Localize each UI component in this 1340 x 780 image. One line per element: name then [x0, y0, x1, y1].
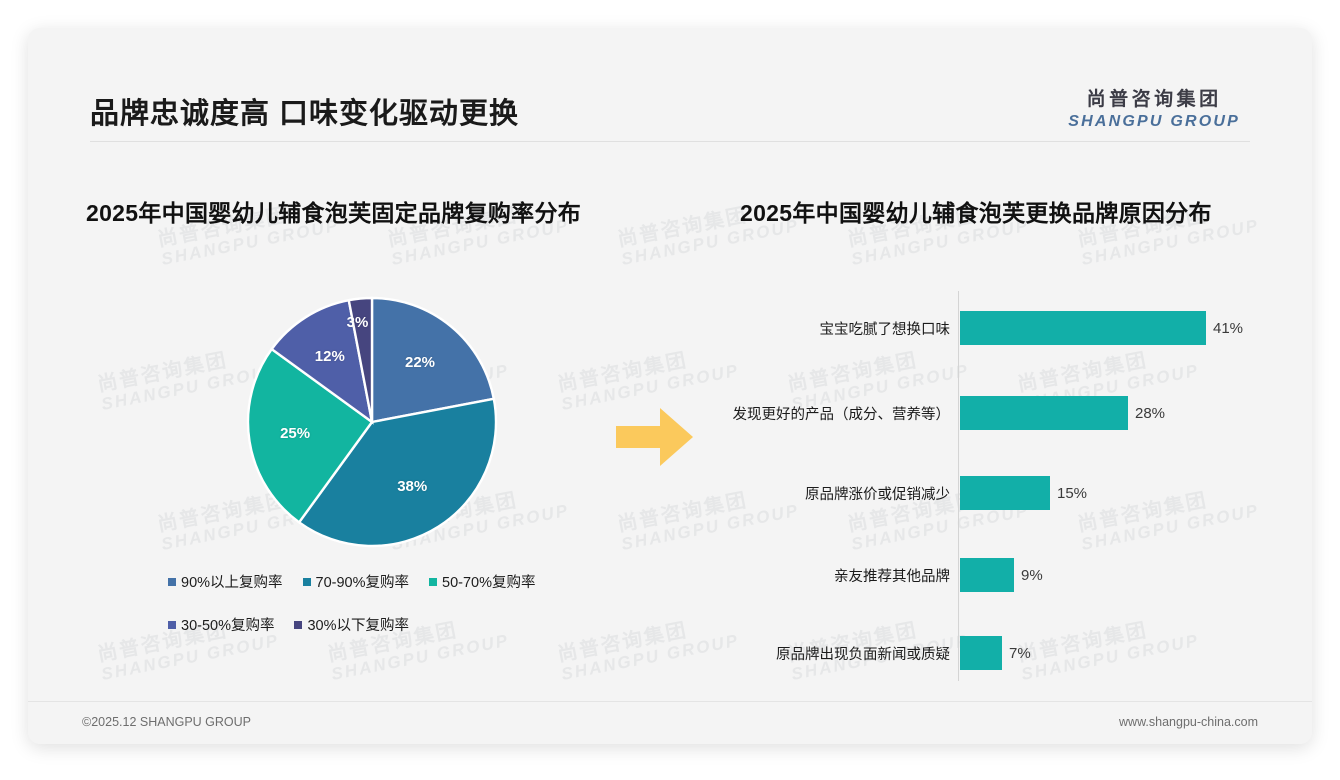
legend-label: 70-90%复购率 — [316, 571, 409, 592]
bar-track: 15% — [960, 473, 1288, 513]
legend-label: 30%以下复购率 — [307, 614, 409, 635]
bar-track: 41% — [960, 308, 1288, 348]
pie-slice-label: 38% — [397, 478, 427, 495]
pie-chart: 22%38%25%12%3% — [246, 296, 498, 548]
pie-legend: 90%以上复购率70-90%复购率50-70%复购率 30-50%复购率30%以… — [168, 571, 588, 657]
bar-chart: 宝宝吃腻了想换口味41%发现更好的产品（成分、营养等）28%原品牌涨价或促销减少… — [728, 283, 1288, 683]
bar-chart-row: 原品牌出现负面新闻或质疑7% — [728, 633, 1288, 673]
slide-card: 尚普咨询集团SHANGPU GROUP尚普咨询集团SHANGPU GROUP尚普… — [28, 28, 1312, 744]
bar-chart-row: 亲友推荐其他品牌9% — [728, 555, 1288, 595]
legend-swatch-icon — [168, 621, 176, 629]
logo-english-text: SHANGPU GROUP — [1068, 112, 1240, 131]
header-divider — [90, 141, 1250, 142]
logo-chinese-text: 尚普咨询集团 — [1068, 88, 1240, 112]
legend-row: 90%以上复购率70-90%复购率50-70%复购率 — [168, 571, 588, 592]
legend-label: 90%以上复购率 — [181, 571, 283, 592]
legend-item[interactable]: 90%以上复购率 — [168, 571, 283, 592]
bar-fill — [960, 558, 1014, 592]
pie-slice-label: 12% — [315, 348, 345, 365]
legend-label: 30-50%复购率 — [181, 614, 274, 635]
bar-value-label: 41% — [1213, 320, 1243, 337]
bar-category-label: 发现更好的产品（成分、营养等） — [728, 403, 960, 424]
watermark: 尚普咨询集团SHANGPU GROUP — [556, 341, 741, 414]
right-arrow-icon — [616, 406, 694, 473]
left-chart-title: 2025年中国婴幼儿辅食泡芙固定品牌复购率分布 — [86, 194, 581, 228]
bar-value-label: 9% — [1021, 567, 1043, 584]
bar-track: 7% — [960, 633, 1288, 673]
bar-value-label: 15% — [1057, 485, 1087, 502]
page-title: 品牌忠诚度高 口味变化驱动更换 — [90, 90, 519, 132]
right-chart-title: 2025年中国婴幼儿辅食泡芙更换品牌原因分布 — [740, 194, 1212, 228]
bar-chart-row: 原品牌涨价或促销减少15% — [728, 473, 1288, 513]
legend-item[interactable]: 70-90%复购率 — [303, 571, 409, 592]
pie-chart-svg — [246, 296, 498, 548]
bar-value-label: 28% — [1135, 405, 1165, 422]
pie-slice-label: 25% — [280, 425, 310, 442]
legend-swatch-icon — [303, 578, 311, 586]
legend-swatch-icon — [168, 578, 176, 586]
bar-value-label: 7% — [1009, 645, 1031, 662]
legend-swatch-icon — [294, 621, 302, 629]
bar-category-label: 原品牌出现负面新闻或质疑 — [728, 643, 960, 664]
bar-chart-row: 宝宝吃腻了想换口味41% — [728, 308, 1288, 348]
bar-fill — [960, 636, 1002, 670]
bar-category-label: 原品牌涨价或促销减少 — [728, 483, 960, 504]
bar-fill — [960, 396, 1128, 430]
pie-slice-label: 22% — [405, 354, 435, 371]
pie-slice-label: 3% — [347, 314, 369, 331]
bar-fill — [960, 476, 1050, 510]
legend-swatch-icon — [429, 578, 437, 586]
bar-fill — [960, 311, 1206, 345]
legend-item[interactable]: 50-70%复购率 — [429, 571, 535, 592]
bar-track: 9% — [960, 555, 1288, 595]
copyright-text: ©2025.12 SHANGPU GROUP — [82, 715, 251, 729]
bar-category-label: 亲友推荐其他品牌 — [728, 565, 960, 586]
legend-label: 50-70%复购率 — [442, 571, 535, 592]
bar-track: 28% — [960, 393, 1288, 433]
legend-item[interactable]: 30%以下复购率 — [294, 614, 409, 635]
website-link[interactable]: www.shangpu-china.com — [1119, 715, 1258, 729]
bar-category-label: 宝宝吃腻了想换口味 — [728, 318, 960, 339]
slide-header: 品牌忠诚度高 口味变化驱动更换 尚普咨询集团 SHANGPU GROUP — [28, 28, 1312, 118]
slide-footer: ©2025.12 SHANGPU GROUP www.shangpu-china… — [28, 701, 1312, 744]
legend-item[interactable]: 30-50%复购率 — [168, 614, 274, 635]
brand-logo: 尚普咨询集团 SHANGPU GROUP — [1068, 88, 1240, 131]
legend-row: 30-50%复购率30%以下复购率 — [168, 614, 588, 635]
bar-chart-row: 发现更好的产品（成分、营养等）28% — [728, 393, 1288, 433]
